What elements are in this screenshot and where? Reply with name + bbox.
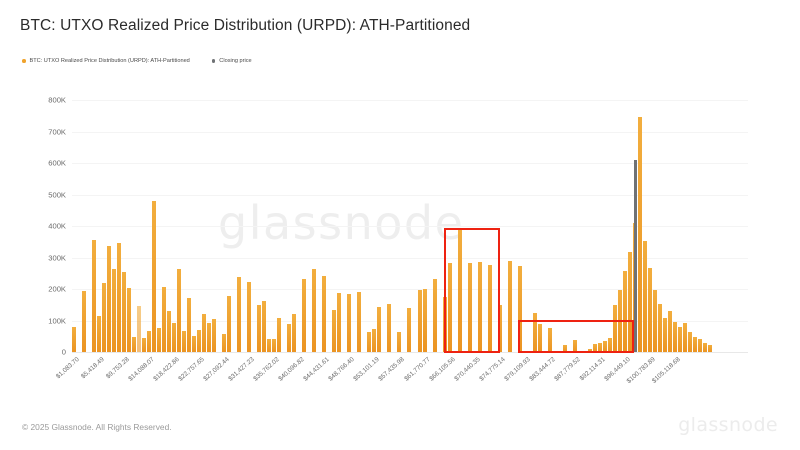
bar[interactable] — [197, 330, 201, 352]
bar[interactable] — [92, 240, 96, 352]
bar[interactable] — [688, 332, 692, 352]
bar[interactable] — [132, 337, 136, 352]
x-axis-tick-label: $92,114.31 — [578, 356, 606, 382]
bar[interactable] — [628, 252, 632, 352]
bar[interactable] — [372, 329, 376, 352]
footer-logo: glassnode — [678, 414, 778, 436]
x-axis-tick-label: $5,418.49 — [80, 356, 106, 380]
bar[interactable] — [172, 323, 176, 352]
legend-swatch-urpd — [22, 59, 26, 63]
bar[interactable] — [683, 323, 687, 352]
bar[interactable] — [117, 243, 121, 352]
bar[interactable] — [648, 268, 652, 352]
bar[interactable] — [312, 269, 316, 352]
x-axis-tick-label: $35,762.02 — [253, 356, 281, 383]
bar[interactable] — [593, 344, 597, 352]
bar[interactable] — [147, 331, 151, 352]
bar[interactable] — [498, 305, 502, 352]
y-axis-tick-label: 200K — [48, 285, 66, 294]
x-axis-tick-label: $61,770.77 — [403, 356, 431, 383]
x-axis-tick-label: $18,422.86 — [152, 356, 180, 383]
bar[interactable] — [162, 287, 166, 352]
x-axis-tick-label: $22,757.65 — [177, 356, 205, 383]
bar[interactable] — [397, 332, 401, 352]
y-axis-tick-label: 100K — [48, 316, 66, 325]
bar[interactable] — [538, 324, 542, 352]
bar[interactable] — [508, 261, 512, 352]
bar[interactable] — [598, 343, 602, 352]
bar[interactable] — [377, 307, 381, 352]
bar[interactable] — [187, 298, 191, 352]
bar[interactable] — [337, 293, 341, 352]
bar[interactable] — [192, 336, 196, 352]
bar[interactable] — [433, 279, 437, 352]
bar[interactable] — [122, 272, 126, 352]
bar[interactable] — [663, 318, 667, 352]
bar[interactable] — [623, 271, 627, 352]
chart-card: BTC: UTXO Realized Price Distribution (U… — [0, 0, 800, 450]
legend-item-urpd[interactable]: BTC: UTXO Realized Price Distribution (U… — [22, 58, 190, 64]
bar[interactable] — [287, 324, 291, 352]
x-axis-tick-label: $1,083.70 — [55, 356, 81, 380]
bar[interactable] — [548, 328, 552, 352]
bar[interactable] — [488, 265, 492, 352]
bar[interactable] — [257, 305, 261, 352]
bar[interactable] — [202, 314, 206, 352]
y-axis-tick-label: 300K — [48, 253, 66, 262]
bar[interactable] — [102, 283, 106, 352]
bar[interactable] — [518, 266, 522, 352]
bar[interactable] — [563, 345, 567, 352]
x-axis-tick-label: $31,427.23 — [227, 356, 255, 383]
bar[interactable] — [678, 327, 682, 352]
bar[interactable] — [468, 263, 472, 352]
legend-swatch-closing-price — [212, 59, 216, 63]
bar[interactable] — [533, 313, 537, 352]
bar[interactable] — [237, 277, 241, 352]
bar[interactable] — [82, 291, 86, 352]
x-axis-tick-label: $74,775.14 — [478, 356, 506, 383]
bar[interactable] — [448, 263, 452, 352]
bar[interactable] — [638, 117, 642, 352]
bar[interactable] — [267, 339, 271, 352]
bar[interactable] — [227, 296, 231, 352]
bar[interactable] — [142, 338, 146, 352]
bar[interactable] — [703, 343, 707, 352]
x-axis-tick-label: $48,766.40 — [328, 356, 356, 383]
bar[interactable] — [588, 349, 592, 352]
closing-price-bar[interactable] — [634, 160, 637, 352]
bar[interactable] — [167, 311, 171, 352]
plot-area — [72, 100, 748, 352]
bar[interactable] — [177, 269, 181, 352]
x-axis-tick-label: $44,431.61 — [303, 356, 331, 383]
x-axis-tick-label: $70,440.35 — [453, 356, 481, 383]
bar[interactable] — [478, 262, 482, 352]
bar[interactable] — [152, 201, 156, 352]
bar[interactable] — [72, 327, 76, 352]
bar[interactable] — [693, 337, 697, 352]
bar[interactable] — [332, 310, 336, 352]
page-title: BTC: UTXO Realized Price Distribution (U… — [20, 17, 470, 35]
x-axis-tick-label: $87,779.52 — [553, 356, 581, 383]
y-axis-tick-label: 600K — [48, 159, 66, 168]
x-axis-tick-label: $27,092.44 — [202, 356, 230, 383]
legend-item-closing-price[interactable]: Closing price — [212, 58, 252, 64]
bar[interactable] — [608, 338, 612, 352]
bar-series — [72, 100, 748, 352]
chart-legend: BTC: UTXO Realized Price Distribution (U… — [22, 58, 252, 64]
y-axis-tick-label: 700K — [48, 127, 66, 136]
x-axis-line — [72, 352, 748, 353]
legend-label-urpd: BTC: UTXO Realized Price Distribution (U… — [30, 58, 190, 64]
bar[interactable] — [613, 305, 617, 352]
bar[interactable] — [643, 241, 647, 352]
bar[interactable] — [262, 301, 266, 352]
x-axis-tick-label: $40,096.82 — [278, 356, 306, 383]
bar[interactable] — [573, 340, 577, 352]
bar[interactable] — [107, 246, 111, 352]
bar[interactable] — [182, 331, 186, 352]
bar[interactable] — [247, 282, 251, 352]
y-axis-tick-label: 500K — [48, 190, 66, 199]
x-axis-tick-label: $53,101.19 — [353, 356, 381, 383]
y-axis-tick-label: 800K — [48, 96, 66, 105]
bar[interactable] — [357, 292, 361, 352]
bar[interactable] — [698, 339, 702, 352]
bar[interactable] — [603, 341, 607, 352]
bar[interactable] — [207, 323, 211, 352]
x-axis-tick-label: $79,109.93 — [503, 356, 531, 383]
bar[interactable] — [97, 316, 101, 352]
bar[interactable] — [322, 276, 326, 352]
bar[interactable] — [157, 328, 161, 352]
x-axis-tick-label: $66,105.56 — [428, 356, 456, 383]
bar[interactable] — [443, 297, 447, 352]
bar[interactable] — [673, 322, 677, 352]
bar[interactable] — [367, 332, 371, 352]
bar[interactable] — [653, 290, 657, 352]
bar[interactable] — [458, 229, 462, 352]
bar[interactable] — [222, 334, 226, 352]
bar[interactable] — [212, 319, 216, 352]
bar[interactable] — [137, 306, 141, 352]
bar[interactable] — [418, 290, 422, 352]
bar[interactable] — [668, 311, 672, 352]
bar[interactable] — [127, 288, 131, 352]
y-axis-tick-label: 400K — [48, 222, 66, 231]
bar[interactable] — [112, 269, 116, 352]
bar[interactable] — [708, 345, 712, 352]
footer-copyright: © 2025 Glassnode. All Rights Reserved. — [22, 422, 172, 432]
bar[interactable] — [277, 318, 281, 352]
bar[interactable] — [292, 314, 296, 352]
legend-label-closing-price: Closing price — [219, 58, 251, 64]
bar[interactable] — [407, 308, 411, 352]
x-axis-tick-label: $57,435.98 — [378, 356, 406, 383]
bar[interactable] — [302, 279, 306, 352]
bar[interactable] — [423, 289, 427, 352]
bar[interactable] — [272, 339, 276, 352]
x-axis-tick-label: $14,088.07 — [127, 356, 155, 383]
y-axis-tick-label: 0 — [62, 348, 66, 357]
bar[interactable] — [658, 304, 662, 352]
bar[interactable] — [618, 290, 622, 352]
bar[interactable] — [347, 294, 351, 352]
x-axis-tick-label: $83,444.72 — [528, 356, 556, 383]
bar[interactable] — [387, 304, 391, 353]
